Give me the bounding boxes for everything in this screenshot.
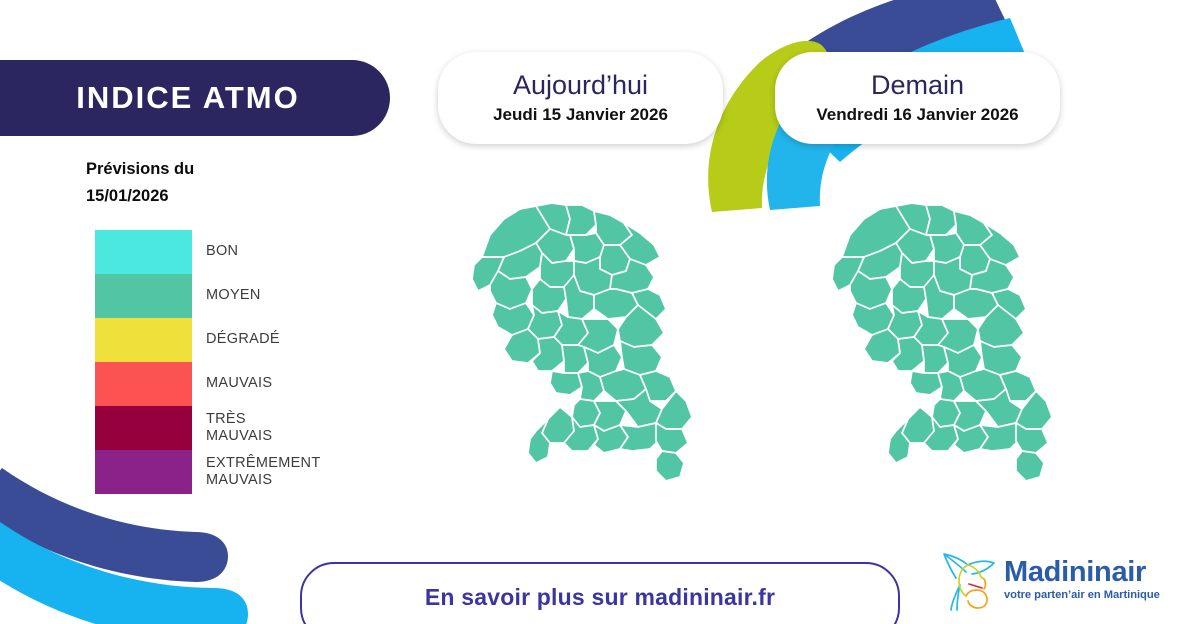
legend-swatch-extremement-mauvais: [95, 450, 192, 494]
legend-item-mauvais: MAUVAIS: [95, 362, 320, 406]
commune: [656, 451, 684, 481]
logo-tagline: votre parten’air en Martinique: [1004, 590, 1160, 601]
map-today-svg: [470, 195, 720, 500]
legend-item-degrade: DÉGRADÉ: [95, 318, 320, 362]
legend-label-degrade: DÉGRADÉ: [206, 331, 280, 348]
tab-today-name: Aujourd’hui: [513, 71, 648, 99]
legend-item-tres-mauvais: TRÈS MAUVAIS: [95, 406, 320, 450]
legend-swatch-mauvais: [95, 362, 192, 406]
page-title: INDICE ATMO: [76, 80, 300, 116]
tab-today[interactable]: Aujourd’hui Jeudi 15 Janvier 2026: [438, 52, 723, 144]
commune: [550, 371, 582, 395]
map-tomorrow-svg: [830, 195, 1080, 500]
learn-more-label: En savoir plus sur madininair.fr: [425, 584, 775, 611]
index-legend: BON MOYEN DÉGRADÉ MAUVAIS TRÈS MAUVAIS E…: [95, 230, 320, 494]
hummingbird-icon: [938, 548, 1000, 612]
legend-swatch-degrade: [95, 318, 192, 362]
legend-label-tres-mauvais: TRÈS MAUVAIS: [206, 411, 272, 445]
map-martinique-tomorrow[interactable]: [830, 195, 1080, 500]
learn-more-banner[interactable]: En savoir plus sur madininair.fr: [300, 562, 900, 624]
legend-label-mauvais: MAUVAIS: [206, 375, 272, 392]
legend-item-extremement-mauvais: EXTRÊMEMENT MAUVAIS: [95, 450, 320, 494]
legend-item-moyen: MOYEN: [95, 274, 320, 318]
logo-name: Madininair: [1004, 558, 1160, 587]
legend-swatch-tres-mauvais: [95, 406, 192, 450]
commune: [566, 205, 596, 235]
forecast-caption-line1: Prévisions du: [86, 156, 194, 183]
legend-label-extremement-mauvais: EXTRÊMEMENT MAUVAIS: [206, 455, 320, 489]
legend-swatch-bon: [95, 230, 192, 274]
madininair-logo[interactable]: Madininair votre parten’air en Martiniqu…: [938, 548, 1160, 612]
tab-tomorrow[interactable]: Demain Vendredi 16 Janvier 2026: [775, 52, 1060, 144]
legend-item-bon: BON: [95, 230, 320, 274]
legend-swatch-moyen: [95, 274, 192, 318]
map-martinique-today[interactable]: [470, 195, 720, 500]
legend-label-bon: BON: [206, 243, 238, 260]
tab-tomorrow-date: Vendredi 16 Janvier 2026: [816, 105, 1018, 125]
commune: [926, 205, 956, 235]
header-banner: INDICE ATMO: [0, 60, 390, 136]
tab-today-date: Jeudi 15 Janvier 2026: [493, 105, 668, 125]
tab-tomorrow-name: Demain: [871, 71, 964, 99]
legend-label-moyen: MOYEN: [206, 287, 261, 304]
commune: [1016, 451, 1044, 481]
forecast-caption: Prévisions du 15/01/2026: [86, 156, 194, 209]
commune: [910, 371, 942, 395]
forecast-date: 15/01/2026: [86, 183, 194, 210]
infographic-canvas: INDICE ATMO Prévisions du 15/01/2026 BON…: [0, 0, 1190, 624]
